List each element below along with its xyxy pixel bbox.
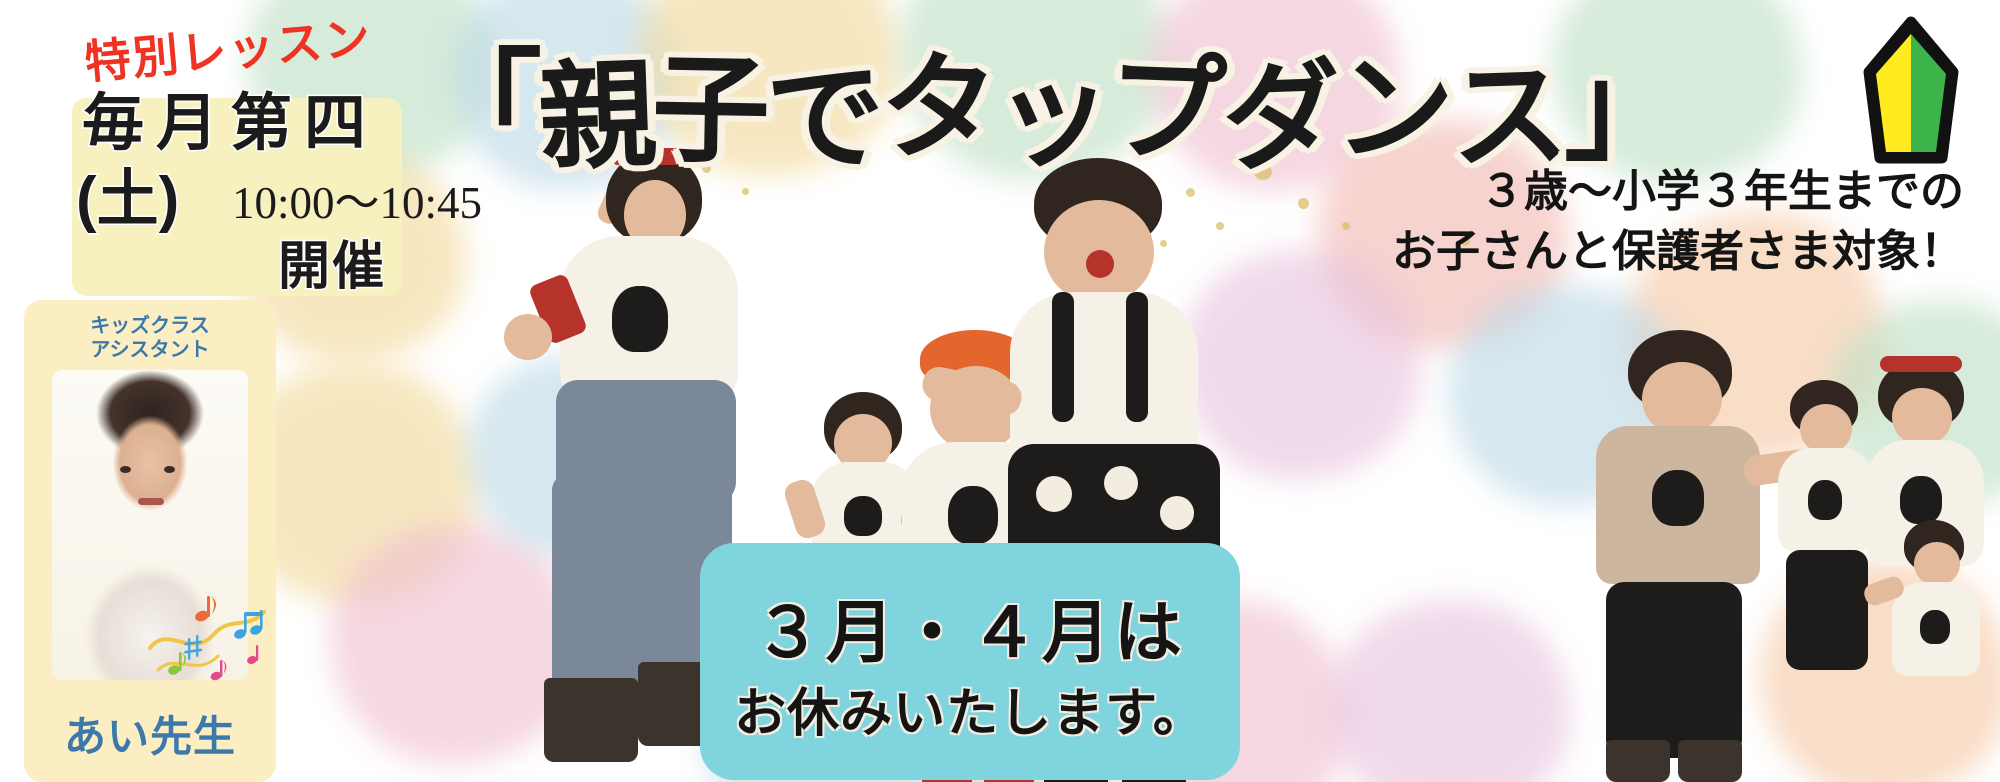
gold-speck — [1298, 198, 1309, 209]
gold-speck — [662, 210, 672, 220]
notice-line-2: お休みいたします。 — [700, 671, 1240, 746]
title-char: タ — [877, 10, 997, 185]
blob-green-5 — [1830, 300, 2000, 510]
schedule-hold-label: 開催 — [278, 224, 386, 299]
gold-speck — [1216, 222, 1224, 230]
notice-line-1: ３月・４月は — [700, 577, 1240, 676]
gold-speck — [1160, 240, 1167, 247]
closure-notice-box: ３月・４月は お休みいたします。 — [700, 543, 1240, 780]
blob-purple-2 — [1330, 600, 1570, 782]
title-char: 親 — [535, 18, 655, 193]
blob-pink-3 — [330, 524, 580, 764]
title-char: 子 — [651, 13, 768, 186]
target-line-1: ３歳〜小学３年生までの — [1480, 167, 1964, 216]
blob-blue-2 — [1448, 286, 1688, 506]
title-char: 」 — [1564, 12, 1678, 183]
teacher-name: あい先生 — [24, 703, 276, 764]
gold-speck — [742, 188, 749, 195]
title-char: ダ — [1219, 19, 1339, 194]
blob-blue-3 — [468, 356, 678, 556]
gold-speck — [640, 664, 649, 673]
teacher-card: キッズクラス アシスタント — [24, 300, 276, 782]
target-line-2: お子さんと保護者さま対象！ — [1392, 227, 1964, 276]
title-char: 「 — [424, 10, 538, 181]
title-char: ッ — [990, 15, 1113, 192]
gold-speck — [1090, 206, 1103, 219]
music-notes-icon — [144, 586, 274, 696]
schedule-day: (土) — [76, 148, 179, 238]
gold-speck — [1342, 222, 1350, 230]
target-audience-text: ３歳〜小学３年生までのお子さんと保護者さま対象！ — [1392, 162, 1964, 282]
shoshinsha-leaf-icon — [1852, 14, 1970, 166]
title-char: で — [763, 20, 883, 195]
teacher-role-label: キッズクラス アシスタント — [24, 314, 276, 363]
gold-speck — [1186, 188, 1195, 197]
title-char: プ — [1105, 11, 1225, 186]
blob-purple-1 — [1180, 250, 1420, 480]
blob-orange-2 — [1760, 560, 2000, 782]
promo-banner: 特別レッスン 毎月第四 (土) 10:00〜10:45 開催 キッズクラス アシ… — [0, 0, 2000, 782]
photo-family-group-right — [1548, 330, 1988, 782]
